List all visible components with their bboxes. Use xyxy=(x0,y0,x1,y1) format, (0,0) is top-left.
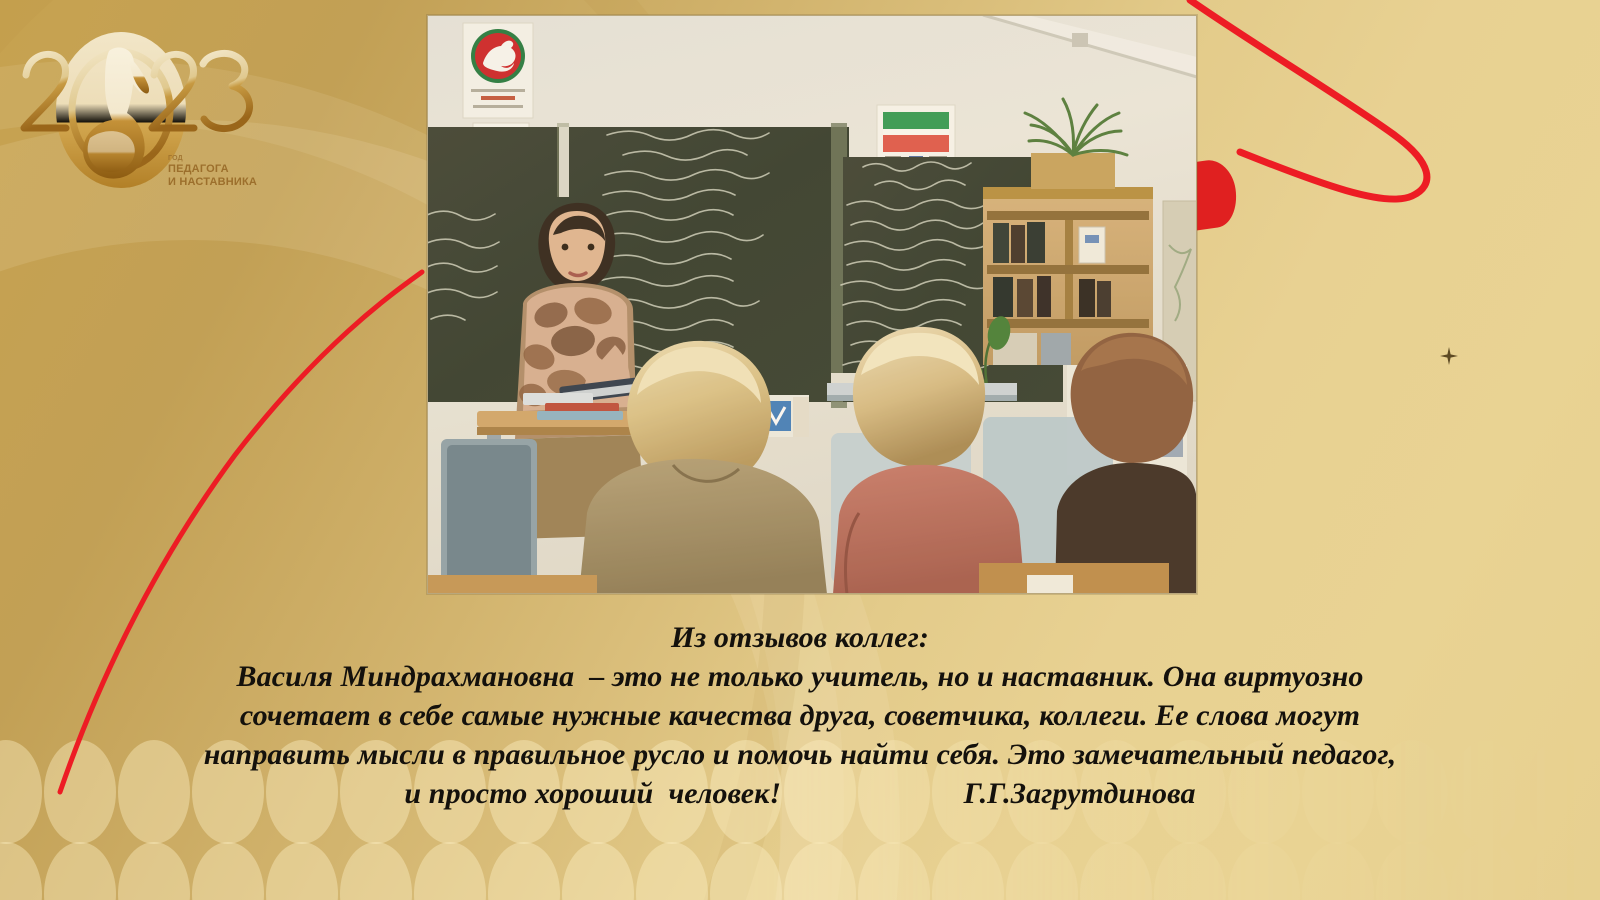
pattern-dot xyxy=(340,842,412,900)
caption-line-1: Василя Миндрахмановна – это не только уч… xyxy=(100,657,1500,696)
emblem-caption: ГОД ПЕДАГОГА И НАСТАВНИКА xyxy=(168,155,278,189)
pattern-dot xyxy=(1524,842,1596,900)
pattern-dot xyxy=(1450,842,1522,900)
caption-title: Из отзывов коллег: xyxy=(100,618,1500,657)
classroom-photograph xyxy=(427,15,1197,594)
pattern-dot xyxy=(636,842,708,900)
emblem-caption-line2: ПЕДАГОГА xyxy=(168,163,278,176)
pattern-dot xyxy=(1006,842,1078,900)
pattern-dot xyxy=(0,842,42,900)
pattern-dot xyxy=(932,842,1004,900)
year-2023-emblem: ГОД ПЕДАГОГА И НАСТАВНИКА xyxy=(8,18,268,208)
caption-line-3: направить мысли в правильное русло и пом… xyxy=(100,735,1500,774)
pattern-dot xyxy=(414,842,486,900)
four-point-sparkle-marker xyxy=(1440,347,1458,365)
pattern-dot xyxy=(488,842,560,900)
pattern-dot xyxy=(1080,842,1152,900)
pattern-dot xyxy=(44,842,116,900)
pattern-dot xyxy=(118,842,190,900)
pattern-dot xyxy=(0,740,42,844)
pattern-dot xyxy=(1228,842,1300,900)
caption-gap xyxy=(781,777,963,810)
pattern-dot xyxy=(562,842,634,900)
colleague-review-caption: Из отзывов коллег: Василя Миндрахмановна… xyxy=(100,618,1500,813)
caption-last-line: и просто хороший человек! xyxy=(404,777,781,810)
caption-line-2: сочетает в себе самые нужные качества др… xyxy=(100,696,1500,735)
pattern-dot xyxy=(710,842,782,900)
emblem-caption-line1: ГОД xyxy=(168,155,278,163)
pattern-dot xyxy=(1524,740,1596,844)
pattern-dot xyxy=(784,842,856,900)
emblem-caption-line3: И НАСТАВНИКА xyxy=(168,176,278,189)
pattern-dot xyxy=(1154,842,1226,900)
pattern-dot xyxy=(858,842,930,900)
pattern-dot xyxy=(1302,842,1374,900)
pattern-dot xyxy=(266,842,338,900)
photograph-content xyxy=(427,15,1197,594)
slide-canvas: ГОД ПЕДАГОГА И НАСТАВНИКА xyxy=(0,0,1600,900)
caption-signature: Г.Г.Загрутдинова xyxy=(964,777,1196,810)
pattern-dot xyxy=(1376,842,1448,900)
dot-row-lower xyxy=(0,842,1600,900)
caption-last-line-row: и просто хороший человек! Г.Г.Загрутдино… xyxy=(100,774,1500,813)
pattern-dot xyxy=(192,842,264,900)
